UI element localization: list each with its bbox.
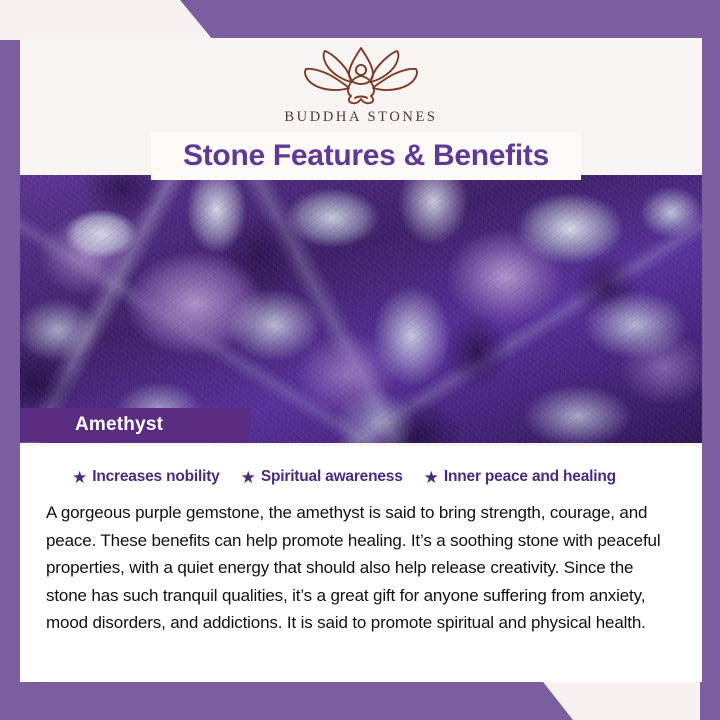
benefit-label: Inner peace and healing xyxy=(444,468,616,486)
brand-header: BUDDHA STONES xyxy=(20,38,702,130)
star-icon: ★ xyxy=(72,469,87,486)
benefit-label: Increases nobility xyxy=(92,468,219,486)
infographic-page: BUDDHA STONES Stone Features & Benefits … xyxy=(0,0,720,720)
benefits-list: ★ Increases nobility ★ Spiritual awarene… xyxy=(46,468,676,486)
frame-band-right xyxy=(700,0,720,720)
page-title: Stone Features & Benefits xyxy=(183,139,549,173)
frame-band-top xyxy=(0,0,720,40)
star-icon: ★ xyxy=(241,469,256,486)
stone-name-tag: Amethyst xyxy=(20,408,250,442)
benefit-item: ★ Increases nobility xyxy=(72,468,220,486)
stone-details-panel: ★ Increases nobility ★ Spiritual awarene… xyxy=(20,446,702,682)
benefit-item: ★ Spiritual awareness xyxy=(241,468,403,486)
stone-photo xyxy=(20,175,702,443)
content-card: BUDDHA STONES Stone Features & Benefits … xyxy=(20,38,702,682)
brand-name: BUDDHA STONES xyxy=(284,109,437,126)
stone-description: A gorgeous purple gemstone, the amethyst… xyxy=(46,499,676,637)
benefit-label: Spiritual awareness xyxy=(261,468,403,486)
page-title-banner: Stone Features & Benefits xyxy=(151,132,581,180)
lotus-meditation-icon xyxy=(286,42,436,108)
stone-name: Amethyst xyxy=(75,414,163,436)
benefit-item: ★ Inner peace and healing xyxy=(424,468,616,486)
frame-band-left xyxy=(0,40,20,720)
frame-band-bottom xyxy=(0,678,720,720)
star-icon: ★ xyxy=(424,469,439,486)
stone-photo-grain xyxy=(20,175,702,443)
